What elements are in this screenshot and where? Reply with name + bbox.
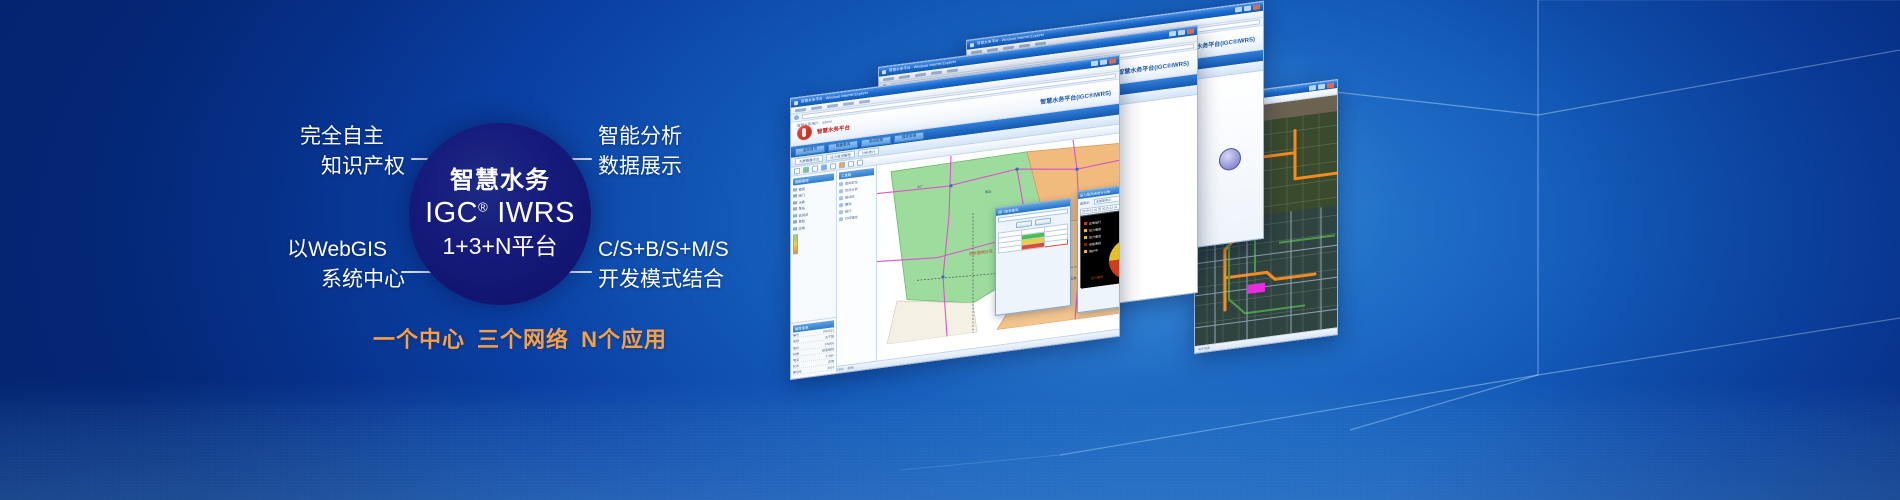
pie-chart-svg: 正常运行 压力偏高 压力偏低 设备离线 维护中 供水量 132.25 bbox=[1081, 206, 1119, 289]
window-icon bbox=[882, 69, 886, 74]
tool-zoom-out-icon[interactable] bbox=[821, 164, 827, 171]
attribute-value: 正常 bbox=[828, 359, 834, 364]
attribute-key: 建设年 bbox=[793, 370, 802, 375]
feature-self-owned-ip: 完全自主 知识产权 bbox=[300, 122, 405, 182]
tagline-part2: 三个网络 bbox=[477, 327, 569, 352]
app-title: 智慧水务平台(IGC®IWRS) bbox=[1118, 58, 1189, 76]
gis-map-canvas[interactable]: 供水管网分区 泵站 调压站 水厂 加压泵 bbox=[877, 134, 1119, 361]
layer-label: 监测点 bbox=[799, 211, 809, 217]
hub-product-right: IWRS bbox=[497, 197, 575, 229]
attribute-value: DN0012 bbox=[823, 328, 834, 333]
tool-identify-icon[interactable] bbox=[839, 162, 845, 169]
tagline-part3: N个应用 bbox=[581, 327, 667, 352]
layer-color-swatch bbox=[793, 194, 797, 198]
dialog-query-button[interactable] bbox=[1016, 220, 1032, 228]
layer-color-swatch bbox=[793, 188, 797, 192]
toolbox-label: 空间分析 bbox=[845, 186, 858, 193]
toolbox-label: 缓冲区 bbox=[845, 194, 855, 200]
toolbox-label: 量测 bbox=[845, 201, 851, 207]
pressure-stats-dialog[interactable]: 压力监测点统计分析 监测点： 全部监测点 2015-01-01 至 2015-1… bbox=[1077, 180, 1119, 313]
layer-label: 管网 bbox=[799, 186, 805, 192]
feature-webgis-center: 以WebGIS 系统中心 bbox=[287, 235, 405, 295]
dialog-body: 监测点： 全部监测点 2015-01-01 至 2015-12-31 bbox=[1078, 188, 1119, 290]
tagline-part1: 一个中心 bbox=[373, 327, 465, 352]
dialog-reset-button[interactable] bbox=[1035, 218, 1051, 226]
feature-line2: 开发模式结合 bbox=[598, 265, 729, 295]
status-ready: 就绪 bbox=[847, 366, 853, 371]
concept-diagram: 完全自主 知识产权 以WebGIS 系统中心 智能分析 数据展示 C/S+B/S… bbox=[0, 0, 820, 500]
hub-product-left: IGC bbox=[425, 197, 478, 229]
toolbox-label: 打印输出 bbox=[845, 214, 858, 221]
toolbox-icon bbox=[839, 203, 843, 208]
filter-label: 监测点： bbox=[1080, 200, 1092, 206]
hub-circle: 智慧水务 IGC®IWRS 1+3+N平台 bbox=[409, 123, 591, 305]
attribute-value: 2.30m bbox=[826, 353, 834, 358]
toolbox-icon bbox=[839, 182, 843, 187]
layer-color-swatch bbox=[793, 214, 797, 218]
svg-text:泵站: 泵站 bbox=[985, 188, 992, 194]
toolbox-label: 查询定位 bbox=[845, 179, 858, 186]
attribute-panel: 属性信息 编号DN0012 名称主干管 管径DN800 材质球墨铸铁 埋深2.3… bbox=[791, 317, 837, 379]
hub-platform: 1+3+N平台 bbox=[442, 232, 557, 261]
app-title: 智慧水务平台(IGC®IWRS) bbox=[1040, 88, 1111, 106]
tool-zoom-in-icon[interactable] bbox=[812, 165, 818, 172]
layer-label: 泵站 bbox=[799, 205, 805, 211]
tool-pan-icon[interactable] bbox=[803, 166, 809, 173]
feature-line2: 数据展示 bbox=[598, 152, 682, 182]
toolbox-icon bbox=[839, 196, 843, 201]
feature-line1: 完全自主 bbox=[300, 122, 405, 152]
window-icon bbox=[970, 42, 974, 47]
layer-color-swatch bbox=[793, 207, 797, 211]
dialog-body bbox=[996, 206, 1070, 256]
feature-smart-analysis: 智能分析 数据展示 bbox=[598, 122, 682, 182]
attribute-value: 2015 bbox=[827, 366, 834, 371]
toolbox-panel[interactable]: 工具箱 查询定位 空间分析 缓冲区 量测 统计 打印输出 bbox=[837, 166, 877, 366]
feature-line1: 智能分析 bbox=[598, 122, 682, 152]
layer-label: 管段 bbox=[799, 218, 805, 224]
pie-chart-panel: 正常运行 压力偏高 压力偏低 设备离线 维护中 供水量 132.25 bbox=[1080, 205, 1119, 288]
hub-product: IGC®IWRS bbox=[425, 198, 575, 230]
toolbox-icon bbox=[839, 210, 843, 215]
dashboard-gauge bbox=[1219, 146, 1241, 171]
layer-color-swatch bbox=[793, 201, 797, 205]
valve-query-dialog[interactable]: 阀门信息查询 bbox=[995, 198, 1071, 316]
banner-root: 完全自主 知识产权 以WebGIS 系统中心 智能分析 数据展示 C/S+B/S… bbox=[0, 0, 1900, 500]
layer-color-swatch bbox=[793, 227, 797, 231]
feature-line2: 知识产权 bbox=[300, 152, 405, 182]
attribute-key: 埋深 bbox=[793, 358, 799, 363]
attribute-key: 管径 bbox=[793, 345, 799, 350]
company-logo-icon bbox=[797, 124, 812, 141]
attribute-value: 主干管 bbox=[825, 335, 834, 340]
tagline: 一个中心三个网络N个应用 bbox=[310, 322, 730, 354]
window-front-gis[interactable]: 智慧水务平台 - Windows Internet Explorer 智慧水务用… bbox=[790, 55, 1120, 380]
tool-pointer-icon[interactable] bbox=[794, 168, 800, 175]
attribute-value: DN800 bbox=[825, 341, 834, 346]
tool-print-icon[interactable] bbox=[857, 159, 863, 166]
feature-line2: 系统中心 bbox=[287, 265, 405, 295]
layer-label: 区域 bbox=[799, 225, 805, 231]
tool-measure-icon[interactable] bbox=[830, 163, 836, 170]
toolbox-label: 统计 bbox=[845, 208, 851, 214]
tool-select-icon[interactable] bbox=[848, 161, 854, 168]
hub-title: 智慧水务 bbox=[450, 167, 550, 195]
attribute-value: 球墨铸铁 bbox=[822, 347, 834, 353]
feature-dev-modes: C/S+B/S+M/S 开发模式结合 bbox=[598, 235, 729, 295]
attribute-key: 状态 bbox=[793, 364, 799, 369]
svg-text:水厂: 水厂 bbox=[917, 183, 923, 189]
status-text: 电子地图 bbox=[1198, 346, 1210, 352]
registered-mark-icon: ® bbox=[478, 200, 488, 215]
attribute-key: 编号 bbox=[793, 333, 799, 338]
layer-color-swatch bbox=[793, 220, 797, 224]
layer-label: 阀门 bbox=[799, 192, 805, 198]
feature-line1: C/S+B/S+M/S bbox=[598, 235, 729, 265]
toolbox-icon bbox=[839, 217, 843, 222]
legend-ramp bbox=[793, 234, 798, 255]
window-icon bbox=[794, 100, 798, 105]
attribute-key: 名称 bbox=[793, 339, 799, 344]
feature-line1: 以WebGIS bbox=[287, 235, 405, 265]
attribute-key: 材质 bbox=[793, 352, 799, 357]
toolbox-icon bbox=[839, 189, 843, 194]
screenshot-stack: 电子地图 智慧水务平台 - Windows Internet Explorer … bbox=[790, 40, 1430, 380]
layer-label: 水表 bbox=[799, 199, 805, 205]
